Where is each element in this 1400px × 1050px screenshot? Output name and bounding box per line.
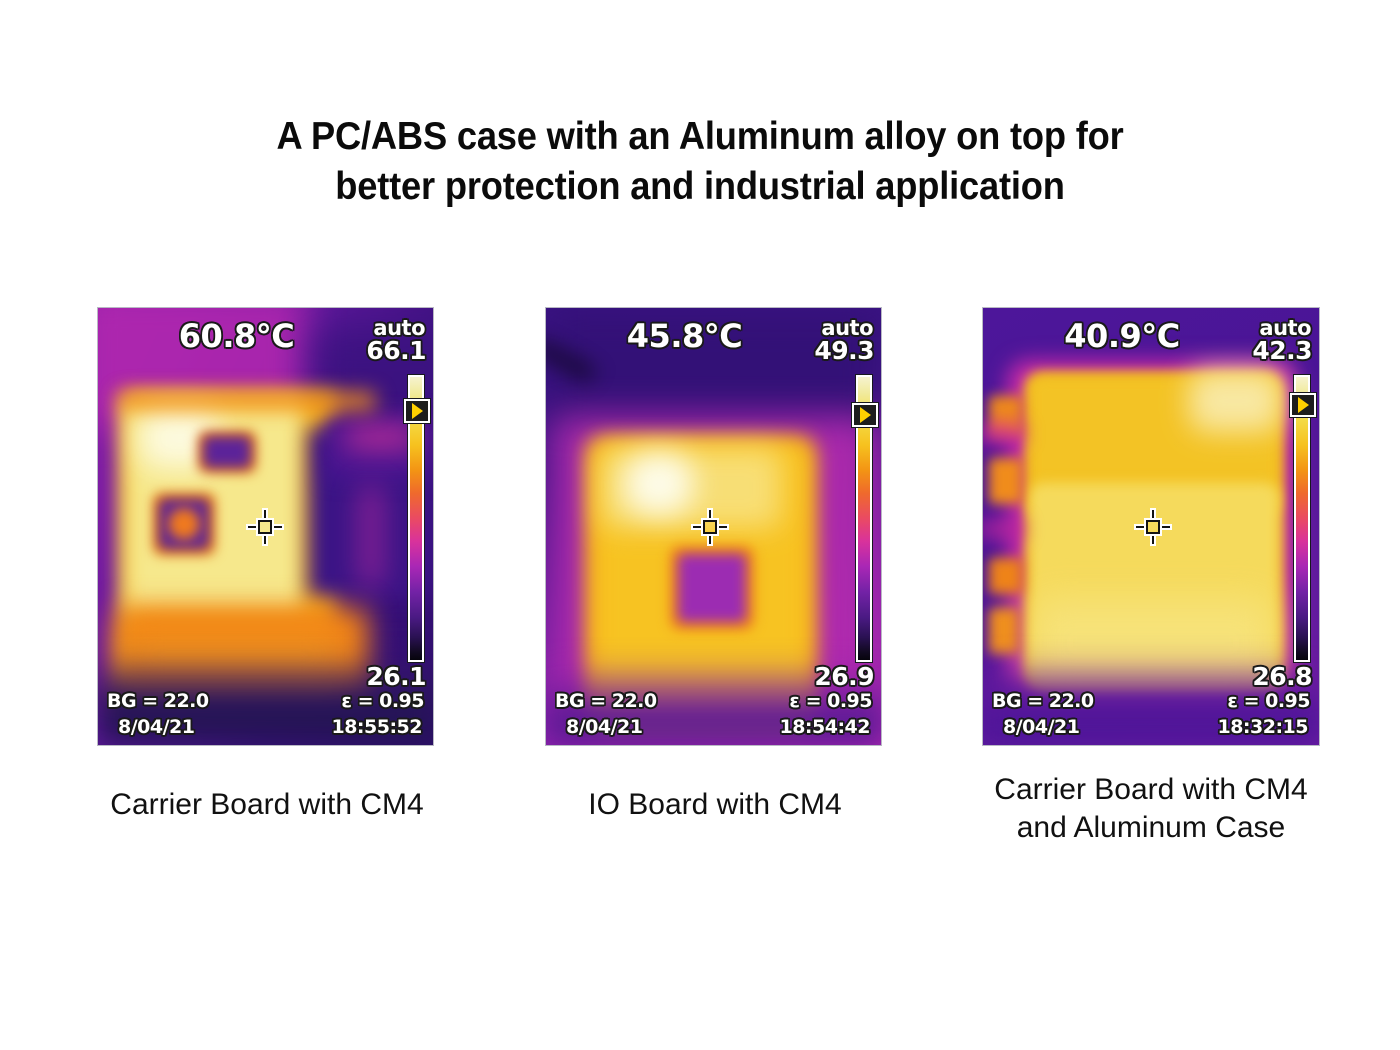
capture-time-label: 18:55:52	[331, 716, 422, 738]
emissivity-label: ε = 0.95	[789, 690, 872, 712]
crosshair-tick-up	[1152, 510, 1154, 518]
scale-arrow-marker-icon[interactable]	[404, 399, 430, 423]
side-fin-4-3	[989, 608, 1019, 654]
caption-line-1: Carrier Board with CM4	[943, 771, 1359, 809]
thermal-panel-carrier-board-cm4[interactable]: 60.8°C auto 66.1 26.1 BG = 22.0 ε = 0.95…	[97, 307, 434, 746]
background-temperature-label: BG = 22.0	[107, 690, 209, 712]
capture-date-label: 8/04/21	[118, 716, 194, 738]
caption-line-1: IO Board with CM4	[540, 786, 890, 824]
scale-arrow-marker-icon[interactable]	[852, 403, 878, 427]
crosshair-tick-left	[1136, 526, 1144, 528]
crosshair-spot-icon	[248, 510, 282, 544]
aluminum-case-corner-highlight-3	[1189, 370, 1281, 432]
crosshair-tick-down	[709, 536, 711, 544]
side-fin-2-3	[989, 458, 1023, 504]
crosshair-center-square	[703, 520, 717, 534]
crosshair-center-square	[1146, 520, 1160, 534]
scale-min-value: 26.1	[366, 662, 426, 691]
caption-carrier-board-cm4: Carrier Board with CM4	[57, 786, 477, 824]
scale-max-value: 42.3	[1252, 336, 1312, 365]
marker-arrow-glyph	[860, 407, 871, 423]
capture-date-label: 8/04/21	[1003, 716, 1079, 738]
crosshair-tick-left	[693, 526, 701, 528]
crosshair-spot-icon	[693, 510, 727, 544]
background-temperature-label: BG = 22.0	[555, 690, 657, 712]
crosshair-tick-down	[264, 536, 266, 544]
emissivity-label: ε = 0.95	[1227, 690, 1310, 712]
io-pink-traces-1	[346, 426, 416, 448]
thermal-comparison-figure: A PC/ABS case with an Aluminum alloy on …	[0, 0, 1400, 1050]
color-scale-bar[interactable]	[856, 375, 872, 662]
io-pink-traces-2-1	[360, 486, 382, 586]
color-scale-bar[interactable]	[408, 375, 424, 662]
caption-line-2: and Aluminum Case	[943, 809, 1359, 847]
caption-line-1: Carrier Board with CM4	[57, 786, 477, 824]
crosshair-tick-up	[709, 510, 711, 518]
scale-min-value: 26.9	[814, 662, 874, 691]
side-magenta-streak-2-3	[982, 522, 1023, 536]
page-title: A PC/ABS case with an Aluminum alloy on …	[49, 112, 1351, 212]
caption-carrier-board-aluminum-case: Carrier Board with CM4 and Aluminum Case	[943, 771, 1359, 847]
marker-arrow-glyph	[412, 403, 423, 419]
scale-arrow-marker-icon[interactable]	[1290, 393, 1316, 417]
chip-square-inner-2	[678, 554, 746, 622]
scale-max-value: 49.3	[814, 336, 874, 365]
crosshair-tick-down	[1152, 536, 1154, 544]
io-board-hotspot-2	[624, 453, 694, 515]
color-scale-bar[interactable]	[1294, 375, 1310, 662]
capture-time-label: 18:32:15	[1217, 716, 1308, 738]
crosshair-spot-icon	[1136, 510, 1170, 544]
background-temperature-label: BG = 22.0	[992, 690, 1094, 712]
side-magenta-streak-3	[982, 426, 1023, 442]
side-fin-3-3	[989, 558, 1023, 594]
crosshair-tick-right	[274, 526, 282, 528]
chip-rect-top-inner-1	[203, 436, 251, 468]
capture-time-label: 18:54:42	[779, 716, 870, 738]
scale-min-value: 26.8	[1252, 662, 1312, 691]
marker-arrow-glyph	[1298, 397, 1309, 413]
capture-date-label: 8/04/21	[566, 716, 642, 738]
emissivity-label: ε = 0.95	[341, 690, 424, 712]
page-title-line-2: better protection and industrial applica…	[49, 162, 1351, 212]
chip-square-mid-core-1	[168, 508, 200, 540]
crosshair-tick-left	[248, 526, 256, 528]
crosshair-tick-up	[264, 510, 266, 518]
crosshair-tick-right	[1162, 526, 1170, 528]
pcb-top-edge-1	[120, 393, 375, 409]
thermal-panel-carrier-board-aluminum-case[interactable]: 40.9°C auto 42.3 26.8 BG = 22.0 ε = 0.95…	[982, 307, 1320, 746]
scale-max-value: 66.1	[366, 336, 426, 365]
thermal-panel-io-board-cm4[interactable]: 45.8°C auto 49.3 26.9 BG = 22.0 ε = 0.95…	[545, 307, 882, 746]
caption-io-board-cm4: IO Board with CM4	[540, 786, 890, 824]
crosshair-center-square	[258, 520, 272, 534]
crosshair-tick-right	[719, 526, 727, 528]
page-title-line-1: A PC/ABS case with an Aluminum alloy on …	[49, 112, 1351, 162]
